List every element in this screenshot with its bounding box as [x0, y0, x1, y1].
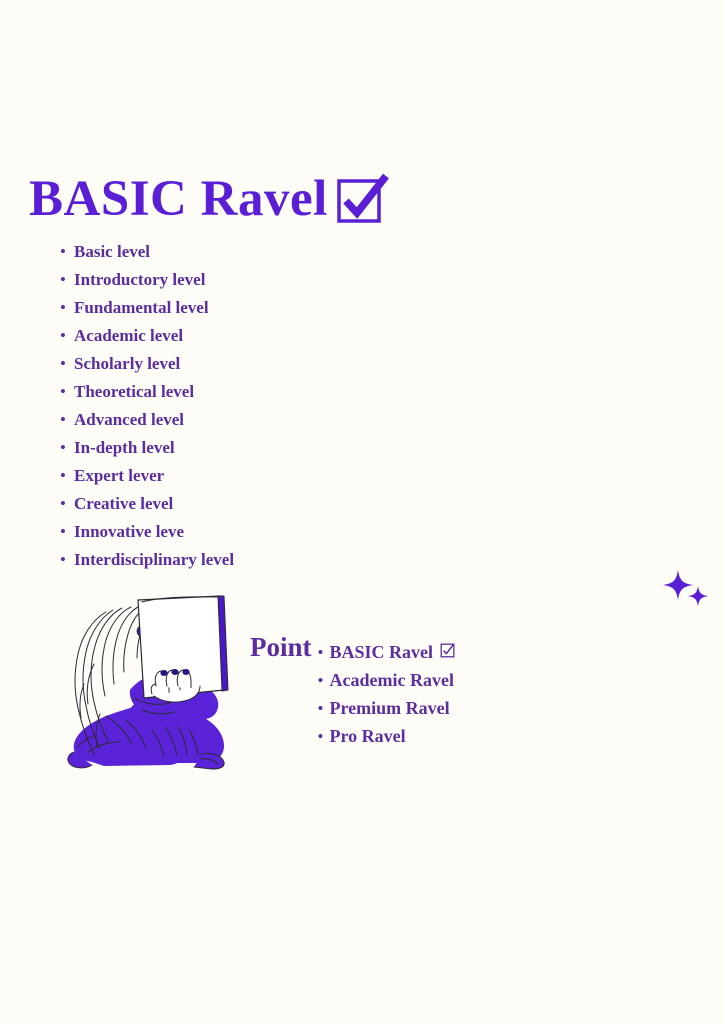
list-item-label: Introductory level: [74, 266, 205, 294]
page-title: BASIC Ravel: [29, 168, 390, 231]
list-item[interactable]: • Premium Ravel: [318, 694, 456, 722]
poster-canvas: BASIC Ravel • Basic level • Introductory…: [0, 0, 724, 1024]
list-item[interactable]: • BASIC Ravel: [318, 638, 456, 666]
bullet-glyph: •: [60, 518, 74, 546]
list-item-label: Scholarly level: [74, 350, 180, 378]
ravel-tier-list: • BASIC Ravel • Academic Ravel • Premium…: [318, 638, 456, 750]
woman-reading-book-illustration: [34, 594, 234, 784]
bullet-glyph: •: [318, 695, 330, 723]
list-item-label: Premium Ravel: [330, 694, 450, 722]
level-list: • Basic level • Introductory level • Fun…: [60, 238, 234, 574]
bullet-glyph: •: [318, 723, 330, 751]
list-item-label: Expert lever: [74, 462, 164, 490]
list-item[interactable]: • Creative level: [60, 490, 234, 518]
checked-checkbox-icon: [334, 170, 390, 231]
list-item[interactable]: • Basic level: [60, 238, 234, 266]
bullet-glyph: •: [60, 350, 74, 378]
bullet-glyph: •: [318, 639, 330, 667]
list-item[interactable]: • Academic Ravel: [318, 666, 456, 694]
bullet-glyph: •: [60, 238, 74, 266]
checked-checkbox-icon[interactable]: [440, 640, 455, 668]
list-item-label: Interdisciplinary level: [74, 546, 234, 574]
bullet-glyph: •: [60, 378, 74, 406]
list-item[interactable]: • Innovative leve: [60, 518, 234, 546]
bullet-glyph: •: [60, 294, 74, 322]
list-item[interactable]: • In-depth level: [60, 434, 234, 462]
list-item[interactable]: • Interdisciplinary level: [60, 546, 234, 574]
bullet-glyph: •: [60, 434, 74, 462]
bullet-glyph: •: [60, 546, 74, 574]
bullet-glyph: •: [60, 406, 74, 434]
list-item-label: Academic level: [74, 322, 183, 350]
list-item-label: Pro Ravel: [330, 722, 406, 750]
list-item-label: Academic Ravel: [330, 666, 454, 694]
list-item-label: Theoretical level: [74, 378, 194, 406]
bullet-glyph: •: [60, 322, 74, 350]
bullet-glyph: •: [60, 266, 74, 294]
list-item[interactable]: • Scholarly level: [60, 350, 234, 378]
list-item[interactable]: • Pro Ravel: [318, 722, 456, 750]
list-item-label: Innovative leve: [74, 518, 184, 546]
list-item[interactable]: • Expert lever: [60, 462, 234, 490]
list-item-label: Creative level: [74, 490, 173, 518]
page-title-text: BASIC Ravel: [29, 174, 328, 225]
list-item-label: In-depth level: [74, 434, 175, 462]
point-label: Point: [250, 633, 312, 661]
list-item[interactable]: • Academic level: [60, 322, 234, 350]
bullet-glyph: •: [60, 490, 74, 518]
list-item[interactable]: • Fundamental level: [60, 294, 234, 322]
bullet-glyph: •: [318, 667, 330, 695]
point-section: Point • BASIC Ravel • Academic Ravel • P…: [250, 633, 455, 750]
list-item[interactable]: • Theoretical level: [60, 378, 234, 406]
list-item-label: Basic level: [74, 238, 150, 266]
list-item[interactable]: • Advanced level: [60, 406, 234, 434]
list-item-label: Advanced level: [74, 406, 184, 434]
bullet-glyph: •: [60, 462, 74, 490]
list-item-label: Fundamental level: [74, 294, 209, 322]
list-item[interactable]: • Introductory level: [60, 266, 234, 294]
list-item-label: BASIC Ravel: [330, 638, 434, 666]
sparkles-icon: [662, 568, 712, 619]
